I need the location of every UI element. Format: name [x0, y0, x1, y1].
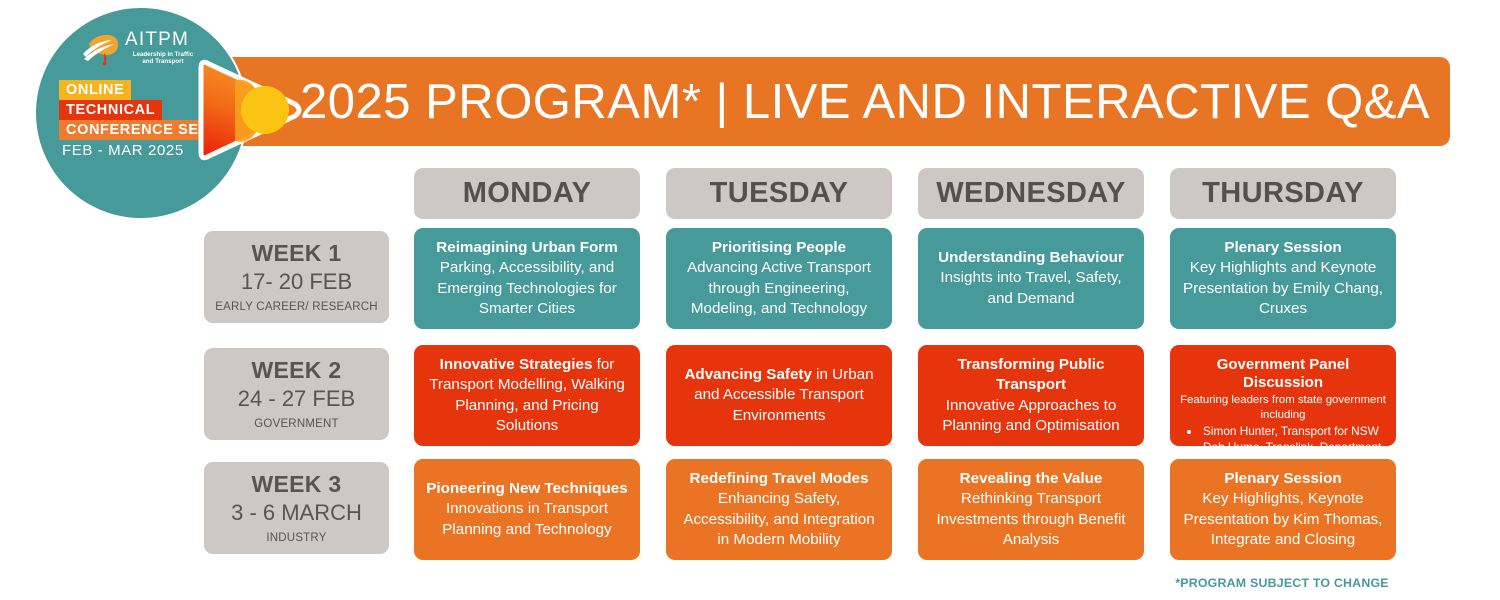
week-stream: INDUSTRY [266, 530, 326, 546]
play-button-icon [189, 56, 307, 164]
aitpm-wordmark: AITPM [125, 30, 189, 50]
panel-speaker-item: Simon Hunter, Transport for NSW [1201, 424, 1388, 440]
session-title: Pioneering New Techniques [426, 479, 627, 500]
program-footnote: *PROGRAM SUBJECT TO CHANGE [1172, 576, 1392, 590]
session-subtitle: Featuring leaders from state government … [1178, 393, 1388, 423]
aitpm-logo-lockup: AITPM Leadership in Traffic and Transpor… [82, 30, 204, 70]
week-stream: EARLY CAREER/ RESEARCH [215, 299, 377, 315]
session-week1-monday[interactable]: Reimagining Urban Form Parking, Accessib… [414, 228, 640, 329]
session-title: Government Panel Discussion [1178, 356, 1388, 392]
day-header-tuesday: TUESDAY [666, 168, 892, 219]
week-title: WEEK 2 [252, 356, 342, 384]
session-body: Advancing Active Transport through Engin… [676, 258, 882, 320]
week-label-week-3: WEEK 3 3 - 6 MARCH INDUSTRY [204, 462, 389, 554]
session-text: Advancing Safety in Urban and Accessible… [676, 365, 882, 427]
session-week3-monday[interactable]: Pioneering New Techniques Innovations in… [414, 459, 640, 560]
session-body: Key Highlights, Keynote Presentation by … [1180, 489, 1386, 551]
session-text: Innovative Strategies for Transport Mode… [424, 355, 630, 437]
session-title: Plenary Session [1224, 469, 1341, 490]
day-header-thursday: THURSDAY [1170, 168, 1396, 219]
session-body: Enhancing Safety, Accessibility, and Int… [676, 489, 882, 551]
week-label-week-2: WEEK 2 24 - 27 FEB GOVERNMENT [204, 348, 389, 440]
session-title: Redefining Travel Modes [690, 469, 869, 490]
program-header-bar: 2025 PROGRAM* | LIVE AND INTERACTIVE Q&A [196, 57, 1450, 146]
session-body: Innovations in Transport Planning and Te… [424, 499, 630, 540]
australia-map-icon [82, 32, 122, 66]
week-label-week-1: WEEK 1 17- 20 FEB EARLY CAREER/ RESEARCH [204, 231, 389, 323]
session-body: Innovative Approaches to Planning and Op… [928, 396, 1134, 437]
session-week1-thursday[interactable]: Plenary Session Key Highlights and Keyno… [1170, 228, 1396, 329]
session-title: Advancing Safety [684, 366, 811, 383]
session-title: Understanding Behaviour [938, 248, 1124, 269]
session-week2-tuesday[interactable]: Advancing Safety in Urban and Accessible… [666, 345, 892, 446]
session-title: Plenary Session [1224, 238, 1341, 259]
badge-dates: FEB - MAR 2025 [62, 142, 184, 159]
week-title: WEEK 3 [252, 470, 342, 498]
session-body: Parking, Accessibility, and Emerging Tec… [424, 258, 630, 320]
session-title: Prioritising People [712, 238, 846, 259]
week-stream: GOVERNMENT [254, 416, 338, 432]
week-dates: 24 - 27 FEB [238, 385, 355, 413]
session-week3-tuesday[interactable]: Redefining Travel Modes Enhancing Safety… [666, 459, 892, 560]
session-week1-wednesday[interactable]: Understanding Behaviour Insights into Tr… [918, 228, 1144, 329]
day-header-monday: MONDAY [414, 168, 640, 219]
session-week2-wednesday[interactable]: Transforming Public Transport Innovative… [918, 345, 1144, 446]
session-week2-thursday[interactable]: Government Panel Discussion Featuring le… [1170, 345, 1396, 446]
session-title: Reimagining Urban Form [436, 238, 617, 259]
session-title: Revealing the Value [960, 469, 1103, 490]
day-header-wednesday: WEDNESDAY [918, 168, 1144, 219]
session-week3-thursday[interactable]: Plenary Session Key Highlights, Keynote … [1170, 459, 1396, 560]
week-dates: 3 - 6 MARCH [231, 499, 362, 527]
session-body: Rethinking Transport Investments through… [928, 489, 1134, 551]
session-week3-wednesday[interactable]: Revealing the Value Rethinking Transport… [918, 459, 1144, 560]
badge-chip-online: ONLINE [59, 80, 131, 100]
session-title: Innovative Strategies [440, 356, 593, 373]
session-title: Transforming Public Transport [928, 355, 1134, 396]
session-week2-monday[interactable]: Innovative Strategies for Transport Mode… [414, 345, 640, 446]
session-body: Key Highlights and Keynote Presentation … [1180, 258, 1386, 320]
week-title: WEEK 1 [252, 239, 342, 267]
badge-chip-technical: TECHNICAL [59, 100, 162, 120]
week-dates: 17- 20 FEB [241, 268, 352, 296]
page-title: 2025 PROGRAM* | LIVE AND INTERACTIVE Q&A [300, 74, 1430, 130]
session-body: Insights into Travel, Safety, and Demand [928, 268, 1134, 309]
session-week1-tuesday[interactable]: Prioritising People Advancing Active Tra… [666, 228, 892, 329]
